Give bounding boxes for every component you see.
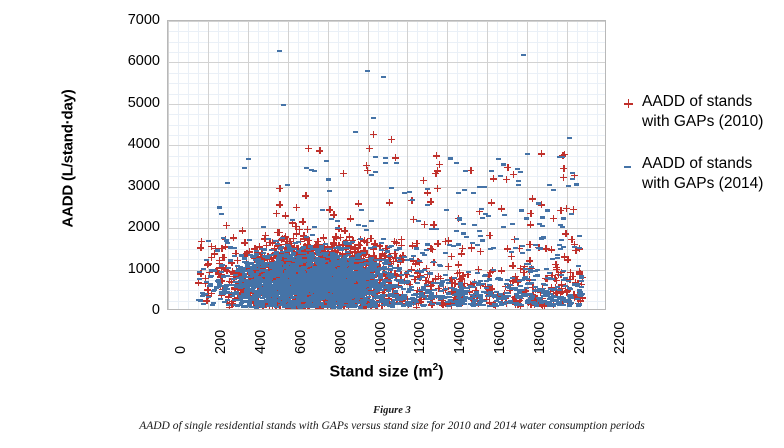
- data-point-2014: [362, 301, 367, 303]
- data-point-2014: [323, 254, 328, 256]
- data-point-2014: [308, 289, 313, 291]
- data-point-2014: [501, 298, 506, 300]
- data-point-2014: [493, 303, 498, 305]
- data-point-2014: [475, 244, 480, 246]
- data-point-2010: [379, 295, 386, 302]
- data-point-2014: [386, 275, 391, 277]
- data-point-2010: [311, 298, 318, 305]
- data-point-2010: [254, 275, 261, 282]
- data-point-2010: [269, 297, 276, 304]
- data-point-2014: [487, 305, 492, 307]
- data-point-2014: [408, 298, 413, 300]
- data-point-2014: [292, 279, 297, 281]
- data-point-2014: [478, 294, 483, 296]
- data-point-2010: [294, 265, 301, 272]
- data-point-2014: [579, 293, 584, 295]
- data-point-2010: [558, 281, 565, 288]
- data-point-2014: [405, 280, 410, 282]
- data-point-2010: [272, 303, 279, 310]
- data-point-2010: [258, 255, 265, 262]
- data-point-2014: [272, 288, 277, 290]
- data-point-2010: [358, 264, 365, 271]
- data-point-2010: [362, 282, 369, 289]
- data-point-2014: [547, 302, 552, 304]
- data-point-2014: [578, 293, 583, 295]
- data-point-2010: [274, 269, 281, 276]
- data-point-2014: [271, 288, 276, 290]
- data-point-2014: [298, 271, 303, 273]
- data-point-2014: [405, 259, 410, 261]
- data-point-2014: [243, 276, 248, 278]
- data-point-2010: [414, 258, 421, 265]
- data-point-2014: [553, 296, 558, 298]
- data-point-2014: [231, 278, 236, 280]
- data-point-2010: [365, 254, 372, 261]
- data-point-2014: [278, 298, 283, 300]
- data-point-2014: [342, 291, 347, 293]
- data-point-2010: [352, 283, 359, 290]
- data-point-2014: [365, 275, 370, 277]
- data-point-2010: [253, 266, 260, 273]
- data-point-2014: [388, 269, 393, 271]
- data-point-2014: [290, 306, 295, 308]
- data-point-2010: [304, 269, 311, 276]
- data-point-2010: [332, 293, 339, 300]
- data-point-2010: [285, 265, 292, 272]
- data-point-2014: [312, 259, 317, 261]
- data-point-2014: [324, 260, 329, 262]
- legend-item-2010[interactable]: AADD of stands with GAPs (2010): [622, 92, 777, 132]
- data-point-2010: [349, 269, 356, 276]
- data-point-2014: [387, 288, 392, 290]
- data-point-2010: [331, 290, 338, 297]
- data-point-2010: [302, 289, 309, 296]
- data-point-2014: [272, 284, 277, 286]
- y-axis-tick-label: 3000: [96, 178, 160, 194]
- data-point-2010: [561, 253, 568, 260]
- data-point-2014: [341, 282, 346, 284]
- data-point-2010: [294, 272, 301, 279]
- data-point-2010: [375, 272, 382, 279]
- data-point-2014: [339, 258, 344, 260]
- data-point-2014: [514, 238, 519, 240]
- data-point-2014: [362, 289, 367, 291]
- data-point-2010: [302, 293, 309, 300]
- data-point-2014: [243, 280, 248, 282]
- data-point-2014: [338, 275, 343, 277]
- data-point-2014: [326, 283, 331, 285]
- data-point-2014: [326, 278, 331, 280]
- data-point-2014: [334, 302, 339, 304]
- data-point-2014: [373, 282, 378, 284]
- data-point-2014: [459, 286, 464, 288]
- data-point-2014: [300, 304, 305, 306]
- data-point-2010: [282, 266, 289, 273]
- data-point-2014: [291, 293, 296, 295]
- data-point-2014: [303, 266, 308, 268]
- data-point-2014: [370, 286, 375, 288]
- data-point-2010: [429, 279, 436, 286]
- data-point-2014: [244, 262, 249, 264]
- data-point-2014: [303, 305, 308, 307]
- data-point-2010: [293, 279, 300, 286]
- data-point-2014: [265, 295, 270, 297]
- data-point-2014: [307, 285, 312, 287]
- data-point-2014: [283, 264, 288, 266]
- data-point-2010: [296, 282, 303, 289]
- data-point-2014: [314, 268, 319, 270]
- data-point-2014: [377, 289, 382, 291]
- data-point-2014: [276, 257, 281, 259]
- data-point-2014: [315, 284, 320, 286]
- data-point-2010: [323, 267, 330, 274]
- data-point-2014: [257, 279, 262, 281]
- data-point-2014: [248, 270, 253, 272]
- data-point-2014: [340, 274, 345, 276]
- data-point-2010: [250, 300, 257, 307]
- data-point-2010: [345, 282, 352, 289]
- data-point-2014: [342, 270, 347, 272]
- data-point-2014: [352, 275, 357, 277]
- data-point-2014: [210, 304, 215, 306]
- data-point-2014: [333, 293, 338, 295]
- data-point-2010: [316, 147, 323, 154]
- data-point-2014: [254, 278, 259, 280]
- data-point-2010: [337, 288, 344, 295]
- data-point-2014: [269, 266, 274, 268]
- data-point-2014: [292, 248, 297, 250]
- data-point-2010: [244, 286, 251, 293]
- data-point-2014: [539, 237, 544, 239]
- data-point-2014: [315, 272, 320, 274]
- data-point-2014: [277, 275, 282, 277]
- data-point-2010: [363, 162, 370, 169]
- data-point-2010: [265, 253, 272, 260]
- data-point-2010: [308, 246, 315, 253]
- data-point-2014: [509, 288, 514, 290]
- data-point-2014: [335, 271, 340, 273]
- data-point-2010: [359, 271, 366, 278]
- data-point-2014: [304, 305, 309, 307]
- data-point-2010: [291, 304, 298, 310]
- data-point-2014: [323, 281, 328, 283]
- data-point-2014: [293, 284, 298, 286]
- data-point-2010: [252, 290, 259, 297]
- data-point-2014: [298, 267, 303, 269]
- data-point-2010: [259, 304, 266, 310]
- data-point-2014: [324, 160, 329, 162]
- data-point-2014: [275, 299, 280, 301]
- data-point-2014: [283, 299, 288, 301]
- data-point-2014: [328, 288, 333, 290]
- data-point-2010: [361, 250, 368, 257]
- data-point-2010: [312, 292, 319, 299]
- data-point-2010: [307, 269, 314, 276]
- data-point-2014: [355, 296, 360, 298]
- data-point-2014: [478, 280, 483, 282]
- data-point-2014: [351, 281, 356, 283]
- data-point-2010: [299, 280, 306, 287]
- legend-marker-plus-icon: [624, 99, 636, 111]
- data-point-2014: [361, 259, 366, 261]
- data-point-2010: [558, 285, 565, 292]
- data-point-2010: [259, 269, 266, 276]
- data-point-2014: [470, 304, 475, 306]
- data-point-2010: [553, 289, 560, 296]
- data-point-2014: [238, 304, 243, 306]
- data-point-2010: [281, 288, 288, 295]
- data-point-2010: [571, 172, 578, 179]
- data-point-2014: [283, 277, 288, 279]
- data-point-2010: [315, 279, 322, 286]
- data-point-2014: [284, 286, 289, 288]
- data-point-2014: [326, 256, 331, 258]
- data-point-2014: [402, 297, 407, 299]
- data-point-2010: [353, 293, 360, 300]
- data-point-2010: [212, 245, 219, 252]
- data-point-2010: [371, 290, 378, 297]
- data-point-2010: [393, 273, 400, 280]
- data-point-2014: [445, 279, 450, 281]
- data-point-2010: [339, 241, 346, 248]
- data-point-2014: [418, 289, 423, 291]
- data-point-2010: [406, 281, 413, 288]
- data-point-2014: [359, 276, 364, 278]
- data-point-2014: [437, 282, 442, 284]
- data-point-2010: [308, 265, 315, 272]
- data-point-2014: [364, 285, 369, 287]
- data-point-2010: [289, 219, 296, 226]
- data-point-2014: [321, 293, 326, 295]
- data-point-2014: [201, 294, 206, 296]
- data-point-2010: [392, 154, 399, 161]
- data-point-2014: [319, 302, 324, 304]
- data-point-2014: [273, 300, 278, 302]
- data-point-2010: [330, 290, 337, 297]
- data-point-2010: [324, 294, 331, 301]
- data-point-2014: [293, 266, 298, 268]
- data-point-2014: [277, 257, 282, 259]
- data-point-2014: [382, 266, 387, 268]
- data-point-2014: [318, 282, 323, 284]
- data-point-2010: [314, 297, 321, 304]
- data-point-2014: [302, 294, 307, 296]
- data-point-2010: [309, 264, 316, 271]
- data-point-2014: [575, 298, 580, 300]
- data-point-2014: [351, 274, 356, 276]
- data-point-2014: [284, 296, 289, 298]
- data-point-2014: [255, 291, 260, 293]
- data-point-2010: [347, 280, 354, 287]
- data-point-2010: [397, 271, 404, 278]
- data-point-2010: [262, 286, 269, 293]
- data-point-2014: [221, 237, 226, 239]
- data-point-2014: [343, 292, 348, 294]
- data-point-2014: [267, 292, 272, 294]
- data-point-2014: [334, 270, 339, 272]
- data-point-2014: [326, 283, 331, 285]
- data-point-2014: [355, 268, 360, 270]
- data-point-2010: [248, 267, 255, 274]
- data-point-2010: [416, 274, 423, 281]
- data-point-2014: [383, 162, 388, 164]
- data-point-2014: [296, 281, 301, 283]
- data-point-2010: [342, 286, 349, 293]
- data-point-2010: [274, 242, 281, 249]
- data-point-2014: [239, 276, 244, 278]
- data-point-2014: [503, 295, 508, 297]
- data-point-2014: [262, 300, 267, 302]
- data-point-2014: [286, 281, 291, 283]
- data-point-2010: [278, 296, 285, 303]
- data-point-2014: [272, 291, 277, 293]
- data-point-2014: [538, 247, 543, 249]
- data-point-2014: [286, 268, 291, 270]
- data-point-2014: [345, 271, 350, 273]
- data-point-2010: [301, 300, 308, 307]
- data-point-2014: [354, 284, 359, 286]
- data-point-2014: [379, 289, 384, 291]
- data-point-2010: [512, 293, 519, 300]
- data-point-2014: [258, 305, 263, 307]
- data-point-2014: [322, 290, 327, 292]
- data-point-2010: [364, 271, 371, 278]
- data-point-2010: [360, 275, 367, 282]
- data-point-2010: [370, 245, 377, 252]
- data-point-2014: [463, 170, 468, 172]
- data-point-2010: [268, 288, 275, 295]
- data-point-2010: [359, 297, 366, 304]
- data-point-2010: [218, 292, 225, 299]
- data-point-2010: [223, 222, 230, 229]
- data-point-2010: [362, 266, 369, 273]
- data-point-2010: [291, 298, 298, 305]
- data-point-2014: [348, 285, 353, 287]
- data-point-2014: [508, 284, 513, 286]
- data-point-2010: [298, 281, 305, 288]
- data-point-2014: [314, 306, 319, 308]
- data-point-2014: [299, 304, 304, 306]
- data-point-2010: [290, 246, 297, 253]
- data-point-2014: [459, 294, 464, 296]
- data-point-2010: [309, 276, 316, 283]
- data-point-2010: [365, 278, 372, 285]
- data-point-2010: [498, 267, 505, 274]
- data-point-2010: [384, 276, 391, 283]
- data-point-2014: [334, 278, 339, 280]
- data-point-2010: [376, 276, 383, 283]
- data-point-2014: [518, 285, 523, 287]
- data-point-2014: [261, 226, 266, 228]
- data-point-2014: [256, 294, 261, 296]
- data-point-2014: [249, 266, 254, 268]
- data-point-2014: [345, 284, 350, 286]
- data-point-2014: [353, 292, 358, 294]
- data-point-2014: [569, 302, 574, 304]
- data-point-2010: [336, 264, 343, 271]
- data-point-2010: [326, 275, 333, 282]
- data-point-2014: [281, 292, 286, 294]
- data-point-2014: [321, 266, 326, 268]
- data-point-2014: [284, 250, 289, 252]
- data-point-2014: [251, 279, 256, 281]
- data-point-2010: [291, 263, 298, 270]
- data-point-2014: [517, 280, 522, 282]
- data-point-2014: [440, 280, 445, 282]
- data-point-2010: [284, 267, 291, 274]
- data-point-2014: [337, 267, 342, 269]
- data-point-2014: [299, 292, 304, 294]
- data-point-2010: [471, 279, 478, 286]
- data-point-2010: [397, 276, 404, 283]
- legend-item-2014[interactable]: AADD of stands with GAPs (2014): [622, 154, 777, 194]
- data-point-2010: [298, 282, 305, 289]
- data-point-2014: [297, 276, 302, 278]
- data-point-2010: [279, 235, 286, 242]
- data-point-2014: [574, 283, 579, 285]
- data-point-2014: [404, 282, 409, 284]
- data-point-2014: [346, 291, 351, 293]
- data-point-2014: [219, 293, 224, 295]
- data-point-2014: [518, 304, 523, 306]
- data-point-2014: [286, 266, 291, 268]
- data-point-2014: [288, 279, 293, 281]
- data-point-2014: [302, 260, 307, 262]
- data-point-2014: [244, 282, 249, 284]
- data-point-2010: [303, 272, 310, 279]
- data-point-2010: [279, 284, 286, 291]
- data-point-2014: [345, 295, 350, 297]
- data-point-2014: [427, 272, 432, 274]
- data-point-2010: [269, 284, 276, 291]
- data-point-2014: [536, 290, 541, 292]
- data-point-2010: [343, 262, 350, 269]
- data-point-2014: [346, 298, 351, 300]
- data-point-2014: [302, 286, 307, 288]
- data-point-2010: [375, 270, 382, 277]
- data-point-2014: [347, 293, 352, 295]
- data-point-2014: [272, 293, 277, 295]
- data-point-2010: [228, 291, 235, 298]
- data-point-2014: [295, 300, 300, 302]
- data-point-2010: [348, 296, 355, 303]
- data-point-2010: [331, 273, 338, 280]
- data-point-2014: [222, 301, 227, 303]
- data-point-2010: [353, 280, 360, 287]
- data-point-2010: [529, 291, 536, 298]
- data-point-2014: [335, 270, 340, 272]
- data-point-2010: [239, 227, 246, 234]
- data-point-2014: [245, 292, 250, 294]
- data-point-2014: [369, 299, 374, 301]
- data-point-2014: [351, 301, 356, 303]
- data-point-2014: [320, 283, 325, 285]
- data-point-2014: [273, 281, 278, 283]
- data-point-2010: [273, 272, 280, 279]
- data-point-2010: [277, 251, 284, 258]
- data-point-2014: [296, 277, 301, 279]
- data-point-2014: [387, 268, 392, 270]
- data-point-2014: [201, 268, 206, 270]
- data-point-2014: [300, 297, 305, 299]
- data-point-2014: [282, 274, 287, 276]
- data-point-2010: [389, 290, 396, 297]
- data-point-2014: [329, 271, 334, 273]
- data-point-2014: [347, 275, 352, 277]
- data-point-2014: [288, 269, 293, 271]
- data-point-2014: [382, 271, 387, 273]
- data-point-2010: [314, 262, 321, 269]
